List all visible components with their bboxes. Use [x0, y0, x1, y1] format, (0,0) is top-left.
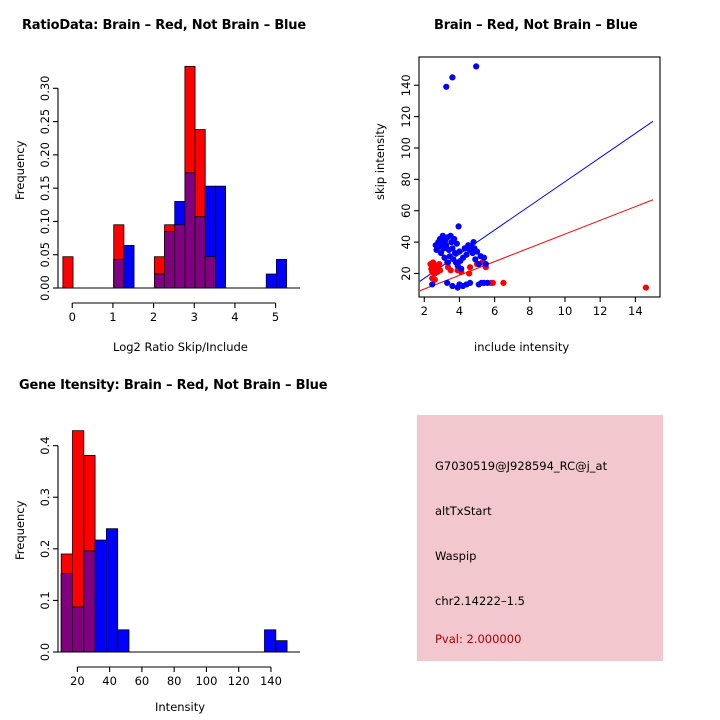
- scatter-point: [470, 239, 476, 245]
- x-tick-label: 4: [456, 304, 463, 318]
- histogram-bar-overlap: [205, 257, 215, 288]
- y-tick-label: 120: [399, 106, 413, 128]
- scatter-point: [483, 261, 489, 267]
- scatter-plot: 204060801001201402468101214: [360, 0, 720, 360]
- scatter-point: [436, 261, 442, 267]
- y-tick-label: 100: [399, 137, 413, 159]
- x-tick-label: 4: [231, 310, 238, 324]
- histogram-bar: [265, 630, 276, 652]
- y-tick-label: 0.4: [38, 436, 52, 454]
- x-tick-label: 10: [558, 304, 573, 318]
- info-locus: chr2.14222–1.5: [435, 594, 525, 608]
- scatter-points: [427, 63, 649, 290]
- histogram-bar: [118, 630, 129, 652]
- ratio-hist-ylabel: Frequency: [13, 141, 27, 200]
- y-tick-label: 0.2: [38, 540, 52, 558]
- info-pval: Pval: 2.000000: [435, 632, 521, 646]
- gene-hist-plot: 0.00.10.20.30.420406080100120140: [0, 360, 360, 720]
- y-tick-label: 0.0: [38, 643, 52, 661]
- x-tick-label: 2: [421, 304, 428, 318]
- y-tick-label: 0.25: [38, 109, 52, 135]
- histogram-bar: [124, 245, 134, 288]
- x-tick-label: 100: [195, 674, 217, 688]
- scatter-point: [481, 255, 487, 261]
- scatter-point: [473, 63, 479, 69]
- x-tick-label: 120: [228, 674, 250, 688]
- ratio-hist-plot: 0.000.050.100.150.200.250.30012345: [0, 0, 360, 360]
- y-tick-label: 0.05: [38, 242, 52, 268]
- scatter-point: [445, 259, 451, 265]
- info-event-type: altTxStart: [435, 504, 492, 518]
- gene-bars: [61, 431, 287, 652]
- ratio-bars: [63, 66, 287, 288]
- scatter-point: [443, 84, 449, 90]
- ratio-hist-xlabel: Log2 Ratio Skip/Include: [113, 340, 248, 354]
- ratio-hist-title: RatioData: Brain – Red, Not Brain – Blue: [22, 18, 306, 33]
- scatter-point: [437, 267, 443, 273]
- scatter-point: [458, 266, 464, 272]
- scatter-point: [485, 280, 491, 286]
- gene-hist-xlabel: Intensity: [155, 700, 205, 714]
- scatter-xlabel: include intensity: [474, 340, 569, 354]
- scatter-point: [476, 261, 482, 267]
- histogram-bar: [63, 257, 73, 288]
- y-tick-label: 0.00: [38, 275, 52, 301]
- histogram-bar: [266, 274, 276, 288]
- y-tick-label: 140: [399, 74, 413, 96]
- panel-scatter: Brain – Red, Not Brain – Blue 2040608010…: [360, 0, 720, 360]
- scatter-point: [455, 223, 461, 229]
- scatter-point: [467, 280, 473, 286]
- y-tick-label: 0.1: [38, 591, 52, 609]
- x-tick-label: 40: [102, 674, 117, 688]
- x-tick-label: 1: [109, 310, 116, 324]
- x-tick-label: 3: [191, 310, 198, 324]
- scatter-point: [444, 280, 450, 286]
- histogram-bar: [276, 641, 287, 652]
- scatter-point: [500, 280, 506, 286]
- gene-hist-title: Gene Itensity: Brain – Red, Not Brain – …: [19, 378, 327, 393]
- scatter-point: [429, 281, 435, 287]
- scatter-point: [467, 264, 473, 270]
- histogram-bar: [215, 186, 225, 288]
- scatter-point: [449, 74, 455, 80]
- gene-hist-ylabel: Frequency: [13, 501, 27, 560]
- histogram-bar-overlap: [195, 217, 205, 288]
- scatter-point: [454, 241, 460, 247]
- info-probe-id: G7030519@J928594_RC@j_at: [435, 459, 607, 473]
- scatter-point: [466, 270, 472, 276]
- x-tick-label: 8: [526, 304, 533, 318]
- panel-info: G7030519@J928594_RC@j_at altTxStart Wasp…: [360, 360, 720, 720]
- scatter-point: [490, 280, 496, 286]
- histogram-bar-overlap: [175, 225, 185, 288]
- histogram-bar-overlap: [61, 574, 72, 652]
- x-tick-label: 60: [135, 674, 150, 688]
- histogram-bar: [276, 259, 286, 288]
- y-tick-label: 0.15: [38, 175, 52, 201]
- histogram-bar-overlap: [114, 259, 124, 288]
- y-tick-label: 20: [399, 266, 413, 281]
- histogram-bar: [106, 529, 117, 652]
- x-tick-label: 6: [491, 304, 498, 318]
- x-tick-label: 2: [150, 310, 157, 324]
- y-tick-label: 80: [399, 172, 413, 187]
- panel-ratio-histogram: RatioData: Brain – Red, Not Brain – Blue…: [0, 0, 360, 360]
- scatter-ylabel: skip intensity: [373, 123, 387, 200]
- x-tick-label: 0: [69, 310, 76, 324]
- y-tick-label: 60: [399, 203, 413, 218]
- histogram-bar: [95, 540, 106, 652]
- x-tick-label: 14: [628, 304, 643, 318]
- y-tick-label: 0.20: [38, 142, 52, 168]
- y-tick-label: 0.3: [38, 488, 52, 506]
- histogram-bar-overlap: [73, 607, 84, 652]
- scatter-point: [448, 267, 454, 273]
- x-tick-label: 20: [70, 674, 85, 688]
- figure-canvas: RatioData: Brain – Red, Not Brain – Blue…: [0, 0, 720, 720]
- scatter-point: [643, 284, 649, 290]
- histogram-bar-overlap: [154, 274, 164, 288]
- x-tick-label: 12: [593, 304, 608, 318]
- scatter-title: Brain – Red, Not Brain – Blue: [434, 18, 638, 33]
- x-tick-label: 5: [272, 310, 279, 324]
- histogram-bar-overlap: [84, 551, 95, 652]
- panel-gene-histogram: Gene Itensity: Brain – Red, Not Brain – …: [0, 360, 360, 720]
- y-tick-label: 0.10: [38, 209, 52, 235]
- scatter-point: [449, 283, 455, 289]
- y-tick-label: 40: [399, 235, 413, 250]
- scatter-point: [456, 248, 462, 254]
- info-background: [417, 415, 663, 661]
- x-tick-label: 80: [167, 674, 182, 688]
- info-gene-name: Waspip: [435, 549, 476, 563]
- histogram-bar-overlap: [185, 173, 195, 288]
- y-tick-label: 0.30: [38, 75, 52, 101]
- histogram-bar-overlap: [165, 231, 175, 288]
- x-tick-label: 140: [260, 674, 282, 688]
